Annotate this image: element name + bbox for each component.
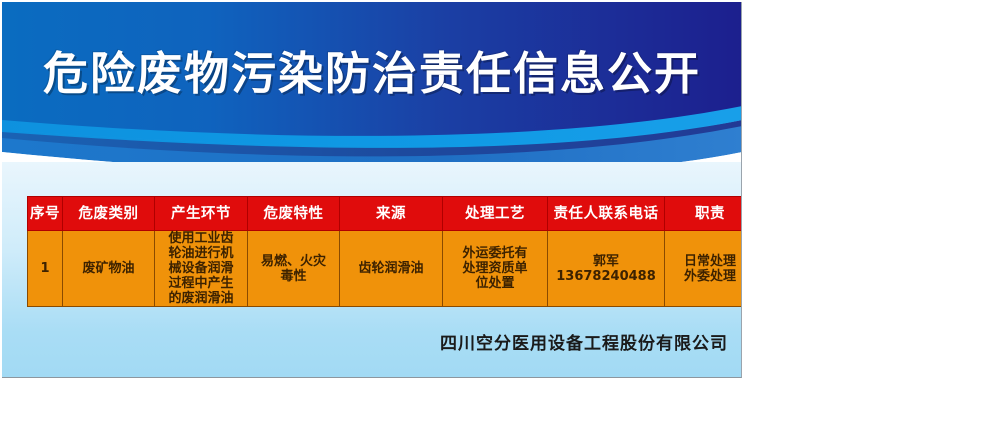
cell-contact: 郭军 13678240488 xyxy=(548,231,665,307)
cell-stage: 使用工业齿 轮油进行机 械设备润滑 过程中产生 的废润滑油 xyxy=(155,231,248,307)
cell-stage-line-2: 轮油进行机 xyxy=(157,246,245,261)
cell-process-line-1: 外运委托有 xyxy=(445,246,545,261)
column-header-duty: 职责 xyxy=(665,197,743,231)
company-name: 四川空分医用设备工程股份有限公司 xyxy=(2,329,728,354)
column-header-category: 危废类别 xyxy=(63,197,155,231)
cell-stage-lines: 使用工业齿 轮油进行机 械设备润滑 过程中产生 的废润滑油 xyxy=(157,231,245,306)
table-row: 1 废矿物油 使用工业齿 轮油进行机 械设备润滑 过程中产生 的废润滑油 易燃、… xyxy=(28,231,743,307)
cell-stage-line-3: 械设备润滑 xyxy=(157,261,245,276)
column-header-process: 处理工艺 xyxy=(443,197,548,231)
cell-process-line-2: 处理资质单 xyxy=(445,261,545,276)
cell-process-line-3: 位处置 xyxy=(445,276,545,291)
table-header-row: 序号 危废类别 产生环节 危废特性 来源 处理工艺 责任人联系电话 职责 xyxy=(28,197,743,231)
cell-characteristics: 易燃、火灾 毒性 xyxy=(248,231,340,307)
cell-duty-lines: 日常处理 外委处理 xyxy=(667,254,742,284)
column-header-index: 序号 xyxy=(28,197,63,231)
cell-index: 1 xyxy=(28,231,63,307)
cell-duty-line-1: 日常处理 xyxy=(667,254,742,269)
banner-header: 危险废物污染防治责任信息公开 xyxy=(2,2,742,162)
cell-source: 齿轮润滑油 xyxy=(340,231,443,307)
cell-characteristics-line-1: 易燃、火灾 xyxy=(250,254,337,269)
cell-process: 外运委托有 处理资质单 位处置 xyxy=(443,231,548,307)
column-header-contact: 责任人联系电话 xyxy=(548,197,665,231)
cell-stage-line-1: 使用工业齿 xyxy=(157,231,245,246)
information-poster: 危险废物污染防治责任信息公开 序号 危废类别 产生环节 危废特性 来源 处理工艺… xyxy=(2,2,742,378)
column-header-source: 来源 xyxy=(340,197,443,231)
cell-stage-line-5: 的废润滑油 xyxy=(157,291,245,306)
cell-process-lines: 外运委托有 处理资质单 位处置 xyxy=(445,246,545,291)
page-title: 危险废物污染防治责任信息公开 xyxy=(2,46,742,102)
cell-characteristics-line-2: 毒性 xyxy=(250,269,337,284)
column-header-stage: 产生环节 xyxy=(155,197,248,231)
cell-duty-line-2: 外委处理 xyxy=(667,269,742,284)
hazardous-waste-table: 序号 危废类别 产生环节 危废特性 来源 处理工艺 责任人联系电话 职责 1 废… xyxy=(27,196,742,307)
cell-characteristics-lines: 易燃、火灾 毒性 xyxy=(250,254,337,284)
cell-contact-name: 郭军 xyxy=(550,254,662,269)
cell-stage-line-4: 过程中产生 xyxy=(157,276,245,291)
cell-contact-lines: 郭军 13678240488 xyxy=(550,254,662,284)
cell-contact-phone: 13678240488 xyxy=(550,269,662,284)
column-header-characteristics: 危废特性 xyxy=(248,197,340,231)
cell-category: 废矿物油 xyxy=(63,231,155,307)
cell-duty: 日常处理 外委处理 xyxy=(665,231,743,307)
